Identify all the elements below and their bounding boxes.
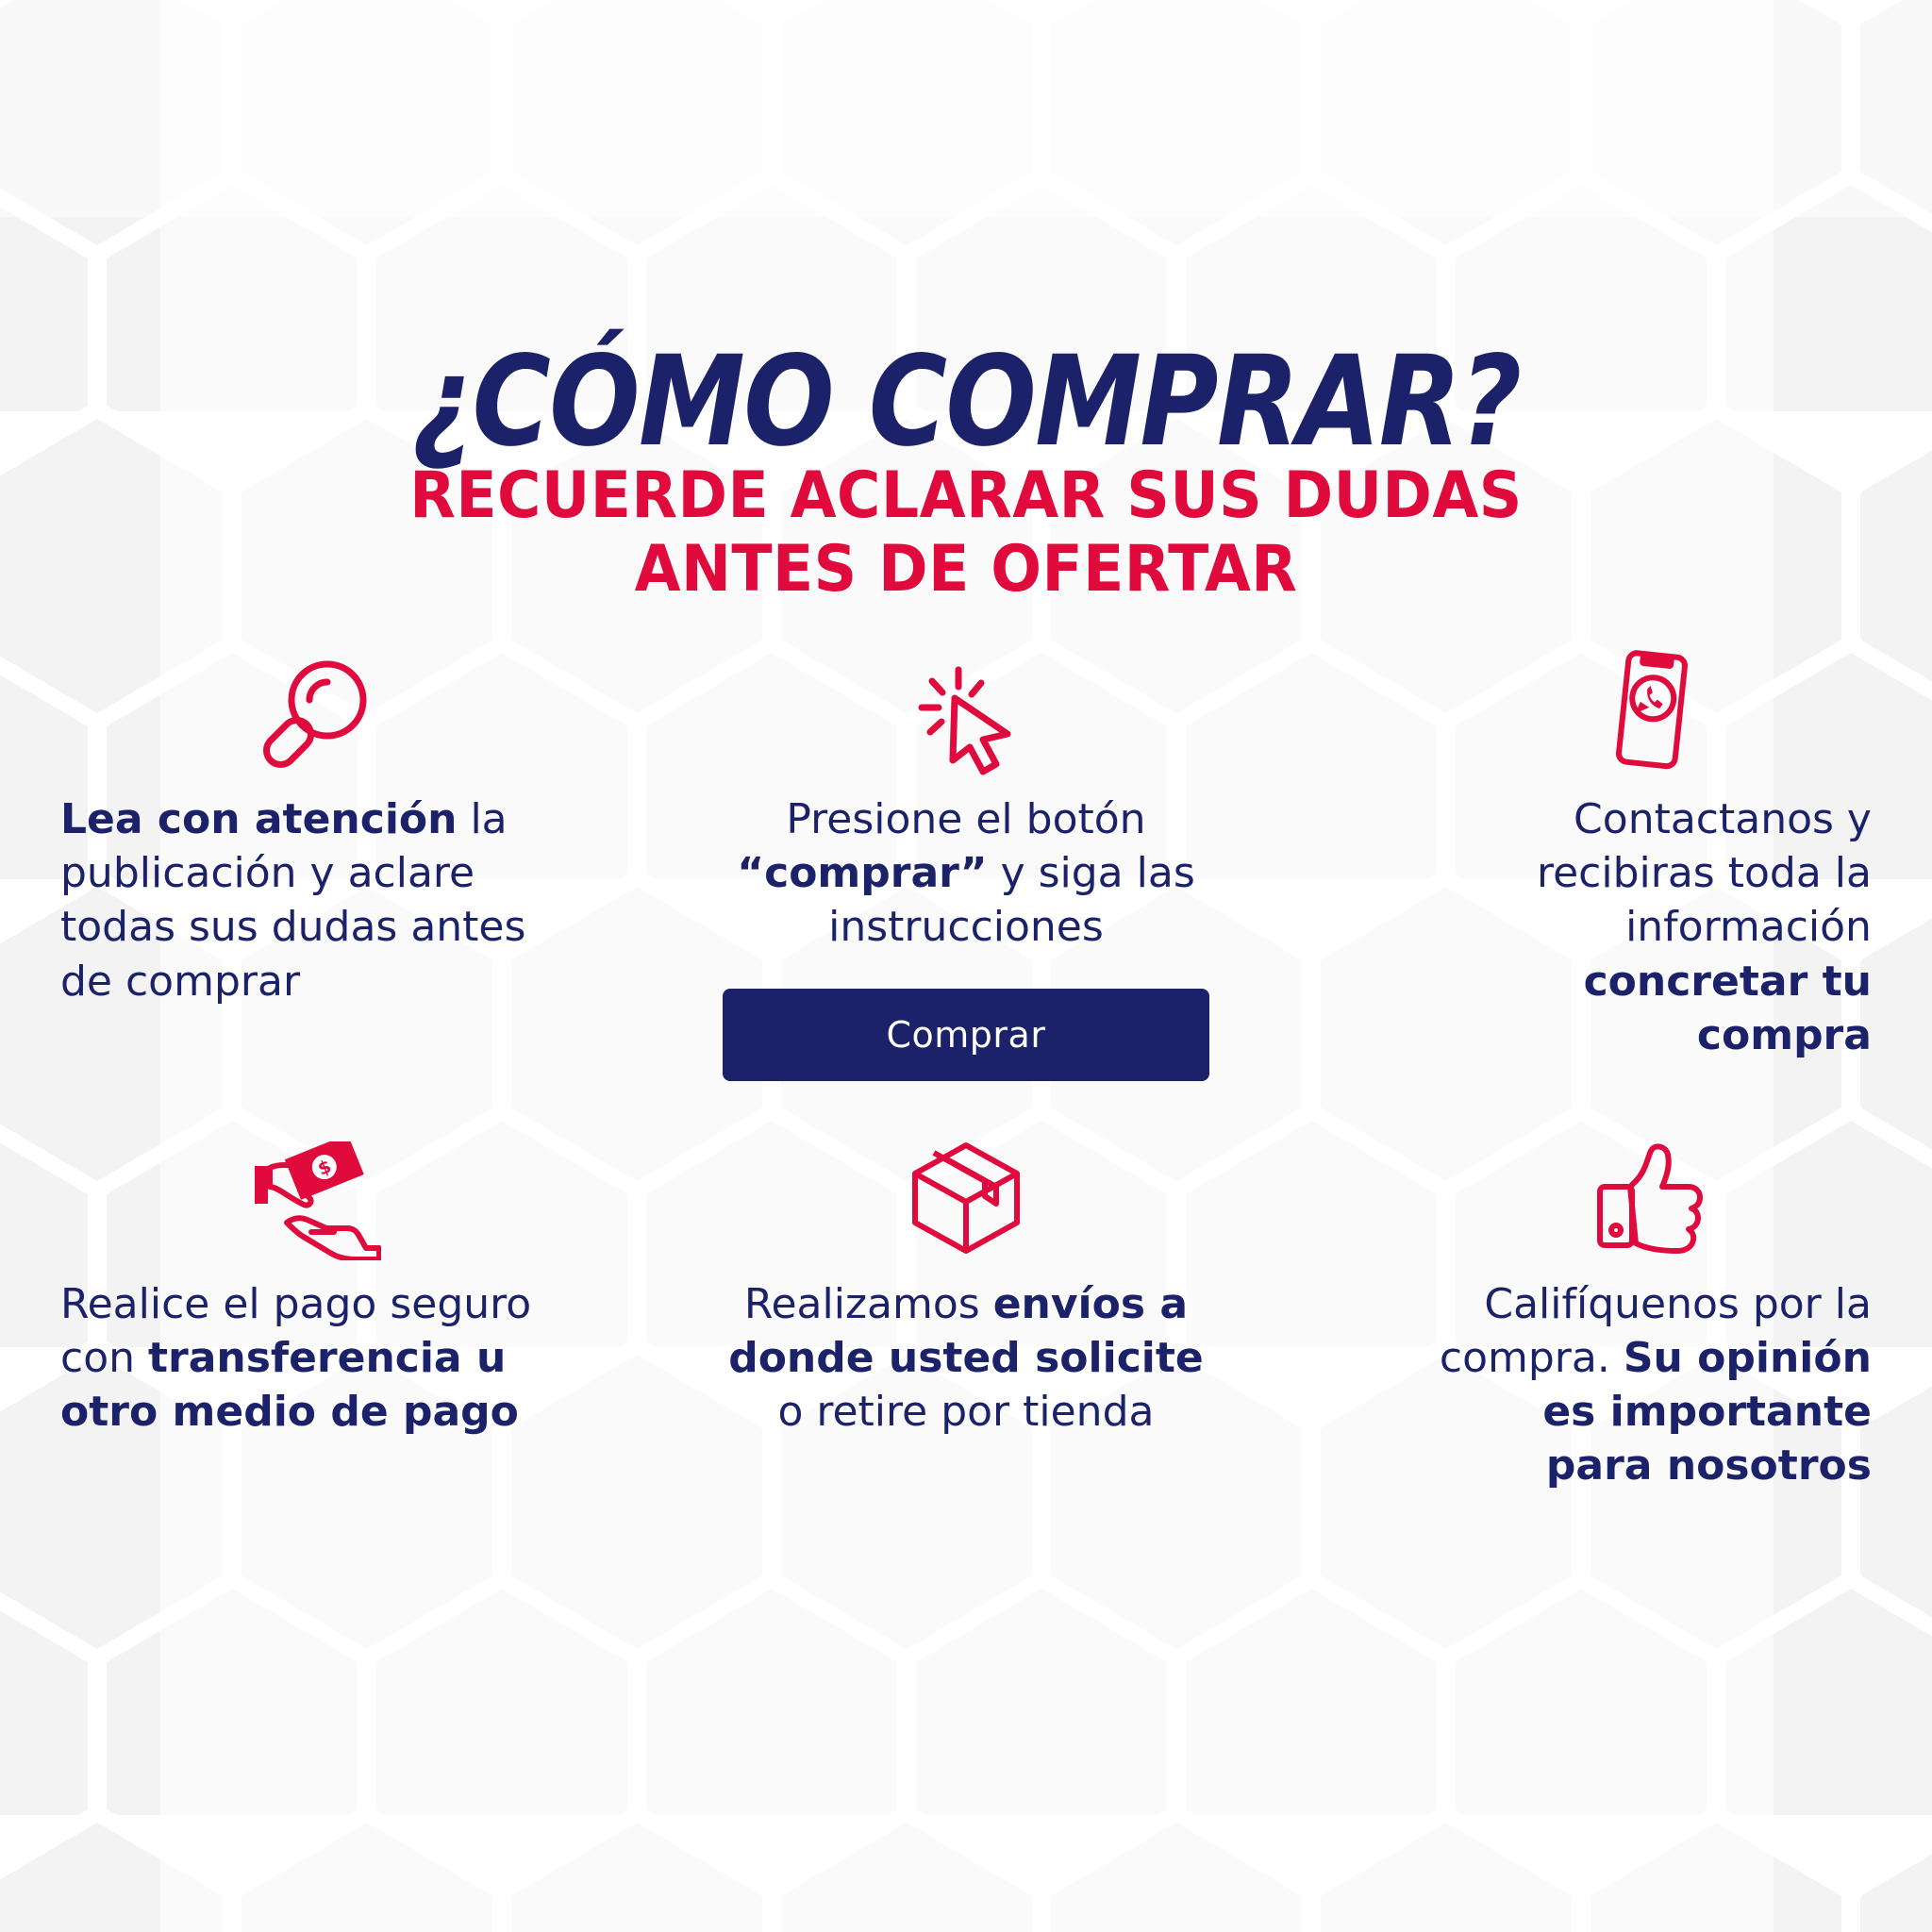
subtitle-line-1: RECUERDE ACLARAR SUS DUDAS: [68, 459, 1865, 533]
step-shipping: Realizamos envíos a donde usted solicite…: [657, 1136, 1275, 1493]
package-box-icon: [906, 1136, 1026, 1260]
click-cursor-icon: [909, 651, 1023, 775]
step-text: Califíquenos por la compra. Su opinión e…: [1428, 1277, 1872, 1493]
steps-row-top: Lea con atención la publicación y aclare…: [38, 651, 1894, 1081]
step-secure-payment: $ Realice el pago seguro con transferenc…: [38, 1136, 657, 1493]
subtitle-line-2: ANTES DE OFERTAR: [68, 533, 1865, 607]
money-hands-icon: $: [60, 1136, 570, 1260]
magnifying-glass-icon: [60, 651, 570, 775]
steps-grid: Lea con atención la publicación y aclare…: [38, 651, 1894, 1492]
page-subtitle: RECUERDE ACLARAR SUS DUDAS ANTES DE OFER…: [68, 459, 1865, 607]
step-text: Lea con atención la publicación y aclare…: [60, 792, 570, 1008]
step-text: Realizamos envíos a donde usted solicite…: [711, 1277, 1221, 1440]
step-text: Realice el pago seguro con transferencia…: [60, 1277, 570, 1440]
thumbs-up-icon: [1428, 1136, 1872, 1260]
buy-button[interactable]: Comprar: [723, 989, 1209, 1081]
infographic-page: ¿CÓMO COMPRAR? RECUERDE ACLARAR SUS DUDA…: [0, 0, 1932, 1932]
step-contact-us: Contactanos y recibiras toda la informac…: [1275, 651, 1894, 1081]
step-read-listing: Lea con atención la publicación y aclare…: [38, 651, 657, 1081]
whatsapp-phone-icon: [1428, 651, 1872, 775]
step-text: Contactanos y recibiras toda la informac…: [1428, 792, 1872, 1062]
step-rate-us: Califíquenos por la compra. Su opinión e…: [1275, 1136, 1894, 1493]
page-title: ¿CÓMO COMPRAR?: [135, 340, 1796, 464]
steps-row-bottom: $ Realice el pago seguro con transferenc…: [38, 1136, 1894, 1493]
step-text: Presione el botón “comprar” y siga las i…: [711, 792, 1221, 955]
step-press-buy: Presione el botón “comprar” y siga las i…: [657, 651, 1275, 1081]
